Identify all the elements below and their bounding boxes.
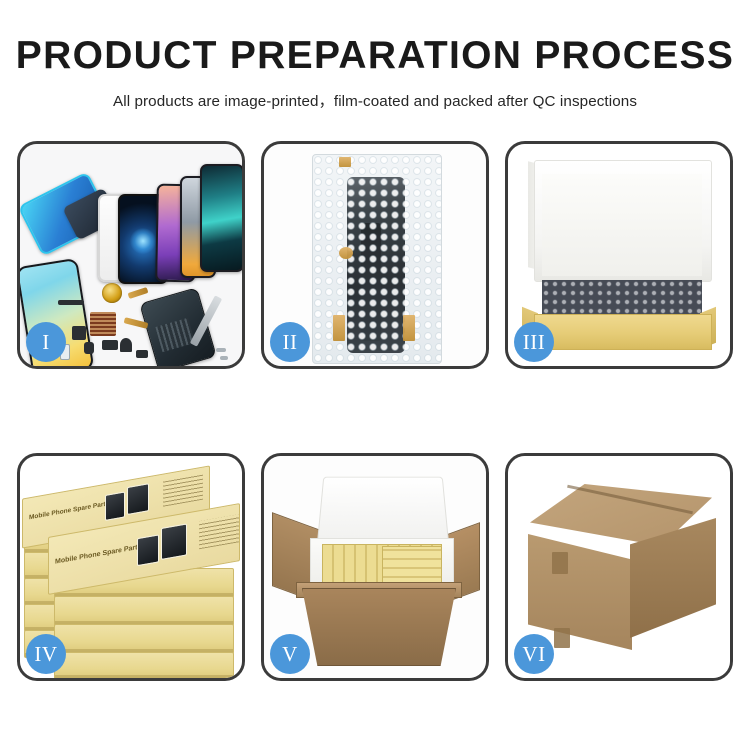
tape-middle [339,247,353,259]
process-step-panel-6: VI [505,453,733,681]
process-step-panel-4: Mobile Phone Spare Parts Mobile Phone Sp… [17,453,245,681]
carton-tape-upper [552,552,568,574]
step-badge-6: VI [514,634,554,674]
tape-top [339,157,351,167]
box-kraft-front [534,314,712,350]
step-badge-3: III [514,322,554,362]
box-foam-sheet [542,174,702,276]
box-lid-spec-lines-front [199,514,240,549]
tape-bottom-left [333,315,345,341]
box-lid-image-front-2 [161,523,187,560]
carton-tape-lower [554,628,570,648]
box-bubble-wrapped-contents [542,280,702,314]
stacked-box-r2 [54,596,234,626]
packed-kraft-boxes-2 [382,546,442,586]
box-lid-spec-lines-upper [163,474,203,507]
stacked-box-r3 [54,624,234,654]
box-lid-image-upper-2 [127,483,149,515]
box-lid-label-upper: Mobile Phone Spare Parts [29,500,109,521]
part-screw-2 [220,356,228,360]
process-step-panel-2: II [261,141,489,369]
phone-screen-teal [200,164,242,272]
tape-bottom-right [403,315,415,341]
process-step-panel-3: III [505,141,733,369]
part-chip-1 [72,326,86,340]
process-step-panel-1: I [17,141,245,369]
process-step-panel-5: V [261,453,489,681]
part-small-bracket [136,350,148,358]
page-subtitle: All products are image-printed，film-coat… [0,89,750,111]
step-badge-4: IV [26,634,66,674]
header: PRODUCT PREPARATION PROCESS All products… [0,0,750,111]
bubble-wrap-bag [312,154,442,364]
process-step-grid: I II III [17,141,733,681]
part-screw-1 [216,348,226,352]
part-speaker-strip [58,300,84,305]
page-title: PRODUCT PREPARATION PROCESS [0,36,750,77]
stacked-box-r4 [54,652,234,678]
part-copper-coil [102,283,122,303]
box-lid-label-front: Mobile Phone Spare Parts [55,543,141,565]
part-chip-3 [102,340,118,350]
part-camera-module [120,338,132,352]
box-lid-image-front-1 [137,534,159,566]
step-badge-5: V [270,634,310,674]
step-badge-2: II [270,322,310,362]
carton-body [302,588,456,666]
part-chip-2 [84,342,94,354]
box-lid-image-upper-1 [105,491,125,521]
step-badge-1: I [26,322,66,362]
part-grid-plate [90,312,116,336]
